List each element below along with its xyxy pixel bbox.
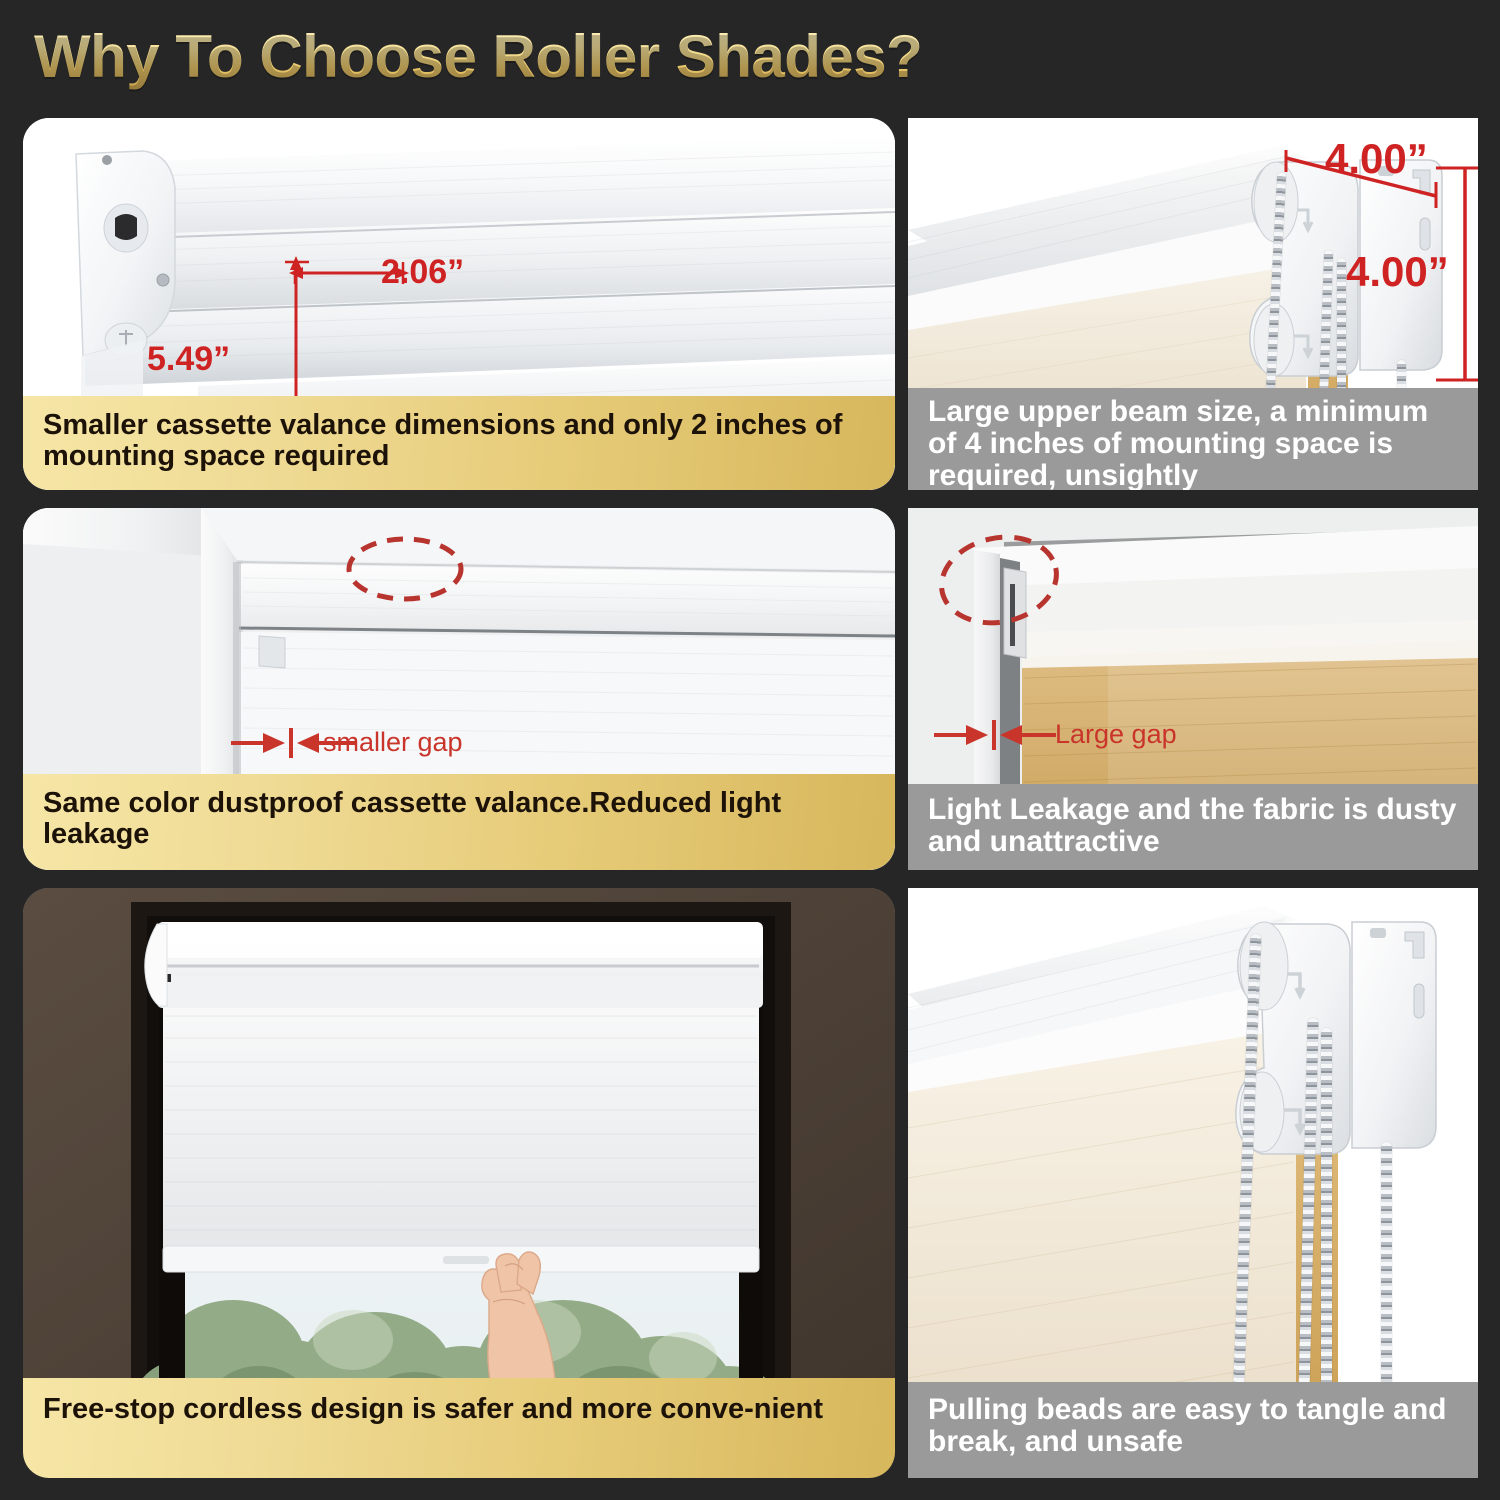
panel-bottom-left: Free-stop cordless design is safer and m… <box>23 888 895 1478</box>
caption-top-left: Smaller cassette valance dimensions and … <box>23 396 895 490</box>
height-dimension-label-2: 4.00” <box>1346 248 1449 296</box>
panel-middle-right-photo: Large gap Light Leakage and the fabric i… <box>908 508 1478 870</box>
gap-label-right: Large gap <box>1055 719 1177 750</box>
page-title: Why To Choose Roller Shades? <box>34 22 922 91</box>
panel-bottom-right-photo: Pulling beads are easy to tangle and bre… <box>908 888 1478 1478</box>
caption-top-right: Large upper beam size, a minimum of 4 in… <box>908 388 1478 490</box>
caption-middle-left-text: Same color dustproof cassette valance.Re… <box>43 787 781 850</box>
panel-middle-right: Large gap Light Leakage and the fabric i… <box>908 508 1478 870</box>
dashed-ellipse-left <box>345 534 465 604</box>
comparison-infographic: Why To Choose Roller Shades? <box>0 0 1500 1500</box>
width-dimension-label: 2.06” <box>381 253 464 292</box>
panel-top-right-photo: 4.00” 4.00” Large upper beam size, a min… <box>908 118 1478 490</box>
caption-middle-right: Light Leakage and the fabric is dusty an… <box>908 784 1478 870</box>
height-dimension-label: 5.49” <box>147 340 230 379</box>
gap-arrows-right <box>932 716 1058 754</box>
panel-middle-left-photo: smaller gap Same color dustproof cassett… <box>23 508 895 870</box>
panel-top-right: 4.00” 4.00” Large upper beam size, a min… <box>908 118 1478 490</box>
caption-top-right-text: Large upper beam size, a minimum of 4 in… <box>928 395 1428 490</box>
gap-label-left: smaller gap <box>323 727 463 758</box>
caption-middle-right-text: Light Leakage and the fabric is dusty an… <box>928 793 1456 858</box>
panel-middle-left: smaller gap Same color dustproof cassett… <box>23 508 895 870</box>
caption-bottom-right-text: Pulling beads are easy to tangle and bre… <box>928 1393 1446 1458</box>
caption-bottom-left: Free-stop cordless design is safer and m… <box>23 1378 895 1478</box>
panel-bottom-left-photo: Free-stop cordless design is safer and m… <box>23 888 895 1478</box>
panel-bottom-right: Pulling beads are easy to tangle and bre… <box>908 888 1478 1478</box>
width-dimension-label-2: 4.00” <box>1325 135 1428 183</box>
caption-bottom-right: Pulling beads are easy to tangle and bre… <box>908 1382 1478 1478</box>
caption-bottom-left-text: Free-stop cordless design is safer and m… <box>43 1393 823 1425</box>
panel-top-left-photo: 2.06” 5.49” Smaller cassette valance dim… <box>23 118 895 490</box>
caption-top-left-text: Smaller cassette valance dimensions and … <box>43 409 842 472</box>
panel-top-left: 2.06” 5.49” Smaller cassette valance dim… <box>23 118 895 490</box>
caption-middle-left: Same color dustproof cassette valance.Re… <box>23 774 895 870</box>
dashed-ellipse-right <box>936 532 1062 628</box>
